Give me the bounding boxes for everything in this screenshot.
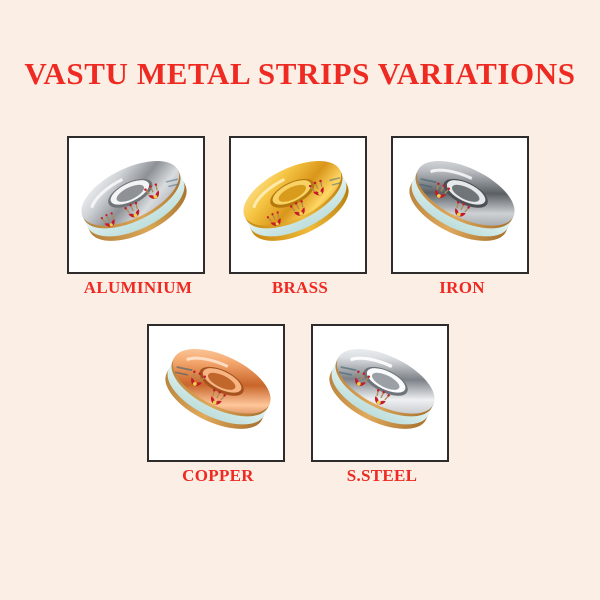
- tape-roll-brass-icon: [235, 142, 361, 268]
- product-image-frame: [391, 136, 529, 274]
- tape-roll-copper: [153, 330, 279, 456]
- product-card-copper[interactable]: COPPER: [147, 324, 289, 486]
- product-label-aluminium: ALUMINIUM: [67, 278, 209, 298]
- tape-roll-aluminium: [73, 142, 199, 268]
- product-image-frame: [147, 324, 285, 462]
- product-grid: ALUMINIUM: [0, 136, 600, 486]
- tape-roll-copper-icon: [153, 330, 279, 456]
- tape-roll-stainless-steel: [317, 330, 443, 456]
- product-image-frame: [311, 324, 449, 462]
- product-row-top: ALUMINIUM: [0, 136, 600, 298]
- tape-roll-iron-icon: [397, 142, 523, 268]
- tape-roll-iron: [397, 142, 523, 268]
- product-row-bottom: COPPER: [0, 324, 600, 486]
- product-card-brass[interactable]: BRASS: [229, 136, 371, 298]
- tape-roll-aluminium-icon: [73, 142, 199, 268]
- tape-roll-brass: [235, 142, 361, 268]
- poster-canvas: VASTU METAL STRIPS VARIATIONS: [0, 0, 600, 600]
- product-card-iron[interactable]: IRON: [391, 136, 533, 298]
- tape-roll-stainless-steel-icon: [317, 330, 443, 456]
- page-title: VASTU METAL STRIPS VARIATIONS: [0, 56, 600, 92]
- product-image-frame: [229, 136, 367, 274]
- product-card-aluminium[interactable]: ALUMINIUM: [67, 136, 209, 298]
- product-label-copper: COPPER: [147, 466, 289, 486]
- product-image-frame: [67, 136, 205, 274]
- product-label-stainless-steel: S.STEEL: [311, 466, 453, 486]
- product-label-iron: IRON: [391, 278, 533, 298]
- product-label-brass: BRASS: [229, 278, 371, 298]
- product-card-stainless-steel[interactable]: S.STEEL: [311, 324, 453, 486]
